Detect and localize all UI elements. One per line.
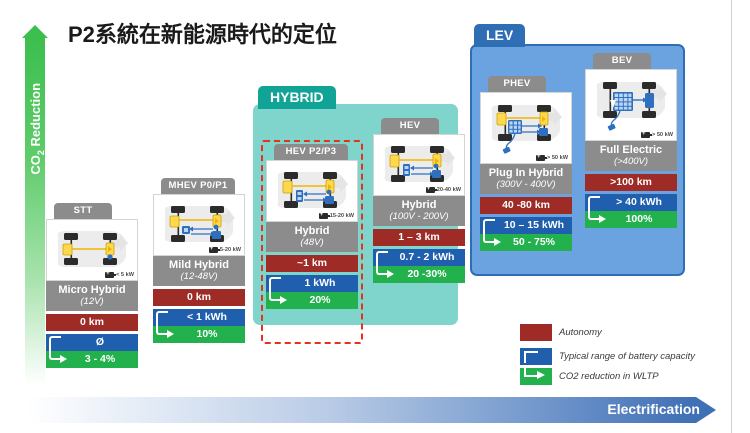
name-main: Mild Hybrid xyxy=(154,259,244,271)
electrification-axis-bar xyxy=(28,397,696,423)
autonomy-bar-bev: >100 km xyxy=(585,174,677,191)
co2-axis-label: CO2 Reduction xyxy=(28,54,46,204)
name-sub: (>400V) xyxy=(586,156,676,167)
elbow-arrow-icon xyxy=(49,347,61,360)
vehicle-schematic-icon xyxy=(157,199,241,249)
vehicle-schematic-icon xyxy=(484,98,568,156)
autonomy-bar-hev-p2p3: ~1 km xyxy=(266,255,358,272)
power-badge-label: > 50 kW xyxy=(547,155,568,161)
co2-bar-hev: 20 -30% xyxy=(373,266,465,283)
name-sub: (12-48V) xyxy=(154,271,244,282)
co2-bar-label: 100% xyxy=(626,213,653,225)
legend: Autonomy Typical range of battery capaci… xyxy=(520,322,740,390)
slide-edge-divider xyxy=(731,0,732,433)
car-diagram-hev: 20-40 kW xyxy=(373,134,465,196)
power-badge-phev: > 50 kW xyxy=(536,155,568,161)
co2-bar-label: 50 - 75% xyxy=(513,236,555,248)
column-tab-bev: BEV xyxy=(593,53,651,69)
battery-bar-label: 0.7 - 2 kWh xyxy=(400,251,455,263)
elbow-arrow-icon xyxy=(483,230,495,243)
power-badge-mhev: 5-20 kW xyxy=(209,247,241,253)
power-badge-label: 5-20 kW xyxy=(220,247,241,253)
legend-swatch-co2 xyxy=(520,368,552,385)
battery-icon xyxy=(536,155,545,161)
battery-icon xyxy=(319,213,328,219)
battery-icon xyxy=(105,272,114,278)
power-badge-label: > 50 kW xyxy=(652,132,673,138)
co2-bar-label: 20% xyxy=(309,294,330,306)
power-badge-label: 20-40 kW xyxy=(437,187,461,193)
battery-icon xyxy=(426,187,435,193)
column-phev[interactable]: PHEV xyxy=(480,76,572,251)
name-box-mhev: Mild Hybrid (12-48V) xyxy=(153,256,245,286)
autonomy-bar-hev: 1 – 3 km xyxy=(373,229,465,246)
legend-label-autonomy: Autonomy xyxy=(559,327,602,338)
vehicle-schematic-icon xyxy=(50,224,134,274)
column-bev[interactable]: BEV xyxy=(585,53,677,228)
power-badge-label: 15-20 kW xyxy=(330,213,354,219)
legend-item-autonomy: Autonomy xyxy=(520,322,740,342)
name-box-hev: Hybrid (100V - 200V) xyxy=(373,196,465,226)
legend-label-co2: CO2 reduction in WLTP xyxy=(559,371,659,382)
power-badge-label: < 5 kW xyxy=(116,272,134,278)
name-sub: (100V - 200V) xyxy=(374,211,464,222)
co2-bar-bev: 100% xyxy=(585,211,677,228)
group-tab-lev: LEV xyxy=(474,24,525,47)
slide-canvas: P2系統在新能源時代的定位 CO2 Reduction HYBRID LEV S… xyxy=(0,0,750,433)
legend-item-co2: CO2 reduction in WLTP xyxy=(520,366,740,386)
column-mhev[interactable]: MHEV P0/P1 xyxy=(153,178,245,343)
power-badge-hev: 20-40 kW xyxy=(426,187,461,193)
car-diagram-stt: < 5 kW xyxy=(46,219,138,281)
name-sub: (300V - 400V) xyxy=(481,179,571,190)
battery-bar-label: 1 kWh xyxy=(305,277,336,289)
name-box-bev: Full Electric (>400V) xyxy=(585,141,677,171)
battery-bar-label: 10 – 15 kWh xyxy=(504,219,564,231)
elbow-arrow-icon xyxy=(269,288,281,301)
name-main: Hybrid xyxy=(267,225,357,237)
name-main: Micro Hybrid xyxy=(47,284,137,296)
name-box-hev-p2p3: Hybrid (48V) xyxy=(266,222,358,252)
legend-swatch-autonomy xyxy=(520,324,552,341)
co2-bar-label: 10% xyxy=(196,328,217,340)
co2-bar-hev-p2p3: 20% xyxy=(266,292,358,309)
column-hev-p2p3[interactable]: HEV P2/P3 xyxy=(266,144,358,309)
battery-icon xyxy=(641,132,650,138)
name-sub: (12V) xyxy=(47,296,137,307)
name-main: Full Electric xyxy=(586,144,676,156)
electrification-axis: Electrification xyxy=(28,397,728,423)
co2-bar-phev: 50 - 75% xyxy=(480,234,572,251)
vehicle-schematic-icon xyxy=(377,139,461,189)
column-hev[interactable]: HEV xyxy=(373,118,465,283)
battery-bar-label: Ø xyxy=(96,336,104,348)
column-tab-mhev: MHEV P0/P1 xyxy=(161,178,235,194)
car-diagram-hev-p2p3: 15-20 kW xyxy=(266,160,358,222)
co2-bar-label: 3 - 4% xyxy=(85,353,115,365)
elbow-icon xyxy=(524,351,538,363)
car-diagram-bev: > 50 kW xyxy=(585,69,677,141)
vehicle-schematic-icon xyxy=(270,165,354,215)
power-badge-hev-p2p3: 15-20 kW xyxy=(319,213,354,219)
legend-swatch-battery xyxy=(520,348,552,365)
co2-bar-mhev: 10% xyxy=(153,326,245,343)
power-badge-stt: < 5 kW xyxy=(105,272,134,278)
legend-label-battery: Typical range of battery capacity xyxy=(559,351,695,362)
column-tab-phev: PHEV xyxy=(488,76,546,92)
name-sub: (48V) xyxy=(267,237,357,248)
legend-item-battery: Typical range of battery capacity xyxy=(520,346,740,366)
autonomy-bar-mhev: 0 km xyxy=(153,289,245,306)
column-stt[interactable]: STT < 5 kW xyxy=(46,203,138,368)
electrification-axis-label: Electrification xyxy=(607,401,700,417)
autonomy-bar-stt: 0 km xyxy=(46,314,138,331)
page-title: P2系統在新能源時代的定位 xyxy=(68,17,337,49)
column-tab-hev-p2p3: HEV P2/P3 xyxy=(274,144,348,160)
co2-bar-label: 20 -30% xyxy=(407,268,446,280)
power-badge-bev: > 50 kW xyxy=(641,132,673,138)
column-tab-hev: HEV xyxy=(381,118,439,134)
elbow-arrow-icon xyxy=(524,365,538,377)
elbow-arrow-icon xyxy=(376,262,388,275)
car-diagram-phev: > 50 kW xyxy=(480,92,572,164)
battery-icon xyxy=(209,247,218,253)
battery-bar-label: > 40 kWh xyxy=(616,196,662,208)
autonomy-bar-phev: 40 -80 km xyxy=(480,197,572,214)
elbow-arrow-icon xyxy=(156,322,168,335)
name-main: Plug In Hybrid xyxy=(481,167,571,179)
column-tab-stt: STT xyxy=(54,203,112,219)
co2-bar-stt: 3 - 4% xyxy=(46,351,138,368)
battery-bar-label: < 1 kWh xyxy=(187,311,227,323)
name-main: Hybrid xyxy=(374,199,464,211)
group-tab-hybrid: HYBRID xyxy=(258,86,336,109)
vehicle-schematic-icon xyxy=(589,75,673,133)
elbow-arrow-icon xyxy=(588,207,600,220)
name-box-phev: Plug In Hybrid (300V - 400V) xyxy=(480,164,572,194)
name-box-stt: Micro Hybrid (12V) xyxy=(46,281,138,311)
car-diagram-mhev: 5-20 kW xyxy=(153,194,245,256)
co2-reduction-axis: CO2 Reduction xyxy=(22,25,48,385)
